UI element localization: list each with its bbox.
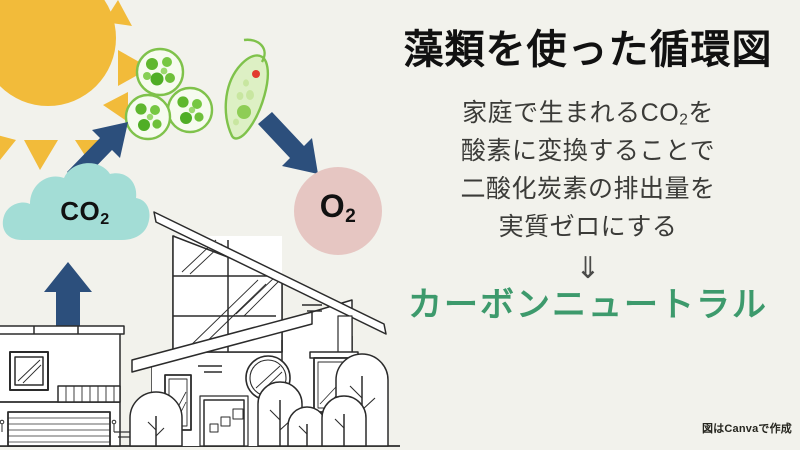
house-illustration bbox=[0, 212, 400, 446]
arrow-co2-to-algae-icon bbox=[67, 122, 128, 184]
subtitle-block: 家庭で生まれるCO2を 酸素に変換することで 二酸化炭素の排出量を 実質ゼロにす… bbox=[388, 94, 788, 246]
subtitle-line-1-before: 家庭で生まれるCO bbox=[462, 99, 679, 127]
text-column: 藻類を使った循環図 家庭で生まれるCO2を 酸素に変換することで 二酸化炭素の排… bbox=[388, 28, 788, 325]
shrubs bbox=[130, 354, 388, 446]
subtitle-line-4: 実質ゼロにする bbox=[388, 208, 788, 246]
co2-label-sub: 2 bbox=[100, 210, 109, 228]
subtitle-line-3: 二酸化炭素の排出量を bbox=[388, 170, 788, 208]
double-down-arrow-icon: ⇓ bbox=[388, 254, 788, 284]
main-house bbox=[114, 212, 386, 446]
arrow-algae-to-o2-icon bbox=[258, 112, 318, 174]
poster-canvas: CO2 O2 藻類を使った循環図 家庭で生まれるCO2を 酸素に変換することで … bbox=[0, 0, 800, 450]
arrow-house-to-co2-icon bbox=[44, 262, 92, 342]
co2-label-main: CO bbox=[60, 196, 100, 226]
subtitle-line-1-sub: 2 bbox=[679, 111, 688, 128]
subtitle-line-2: 酸素に変換することで bbox=[388, 132, 788, 170]
page-title: 藻類を使った循環図 bbox=[388, 28, 788, 72]
o2-label-main: O bbox=[320, 188, 345, 224]
left-building bbox=[0, 326, 124, 446]
o2-label-sub: 2 bbox=[345, 206, 356, 227]
subtitle-line-1: 家庭で生まれるCO2を bbox=[388, 94, 788, 132]
credit-note: 図はCanvaで作成 bbox=[702, 420, 792, 436]
o2-label: O2 bbox=[300, 188, 376, 228]
subtitle-line-1-after: を bbox=[688, 99, 714, 127]
algae-cells-icon bbox=[126, 40, 268, 139]
co2-label: CO2 bbox=[30, 196, 140, 229]
conclusion-text: カーボンニュートラル bbox=[388, 286, 788, 325]
sun-icon bbox=[0, 0, 150, 170]
